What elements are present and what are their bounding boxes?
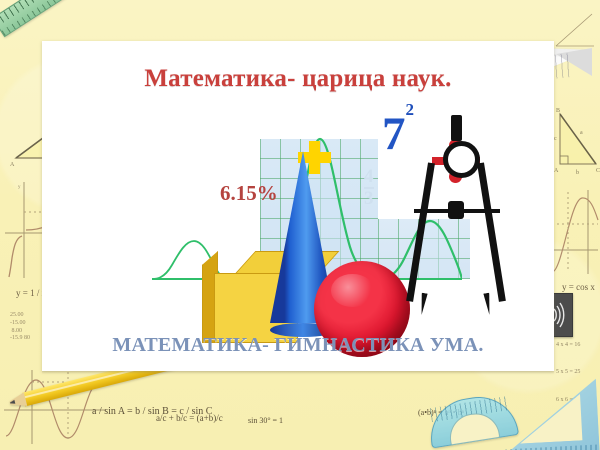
squares-row: 4 x 4 = 16 [556, 341, 580, 350]
svg-text:A: A [10, 162, 15, 168]
set-square-icon [496, 375, 600, 450]
compass-knob [448, 201, 464, 219]
svg-text:y: y [18, 185, 21, 190]
svg-text:C: C [596, 168, 600, 174]
page-title: Математика- царица наук. [42, 65, 554, 93]
fraction-denominator: 3 [364, 190, 374, 208]
cosine-graph [548, 186, 600, 276]
sphere-highlight [331, 274, 373, 307]
compass-right-leg [477, 162, 506, 301]
compass-ring [443, 141, 480, 178]
compass-tool [410, 115, 502, 320]
left-misc-numbers: 25.00 -15.00 8.00 -15.9 80 [10, 312, 30, 343]
svg-text:a: a [580, 130, 583, 136]
slide-panel: Математика- царица наук. 72 [42, 41, 554, 371]
cosine-label: y = cos x [562, 282, 595, 292]
fraction-sum-formula: a/c + b/c = (a+b)/c [156, 413, 223, 423]
right-triangle-diagram: c a b B A C [552, 106, 600, 174]
compass-left-tip [418, 293, 427, 316]
svg-text:c: c [554, 136, 557, 142]
svg-text:b: b [576, 170, 579, 174]
svg-text:B: B [556, 108, 560, 114]
percent-label: 6.15% [220, 181, 278, 206]
power-base: 7 [382, 108, 406, 160]
sin30-formula: sin 30° = 1 [248, 416, 283, 425]
page-subtitle: МАТЕМАТИКА- ГИМНАСТИКА УМА. [42, 334, 554, 357]
compass-right-tip [483, 293, 492, 316]
math-clipart: 72 4 3 [132, 111, 472, 326]
slide-canvas: b a c A C B y x y = 1 / x 10° 90° 25.00 … [0, 0, 600, 450]
compass-left-leg [406, 162, 435, 301]
compass-handle [451, 115, 462, 141]
svg-text:A: A [554, 168, 559, 174]
fraction-four-thirds: 4 3 [364, 168, 374, 208]
fraction-numerator: 4 [364, 168, 374, 186]
